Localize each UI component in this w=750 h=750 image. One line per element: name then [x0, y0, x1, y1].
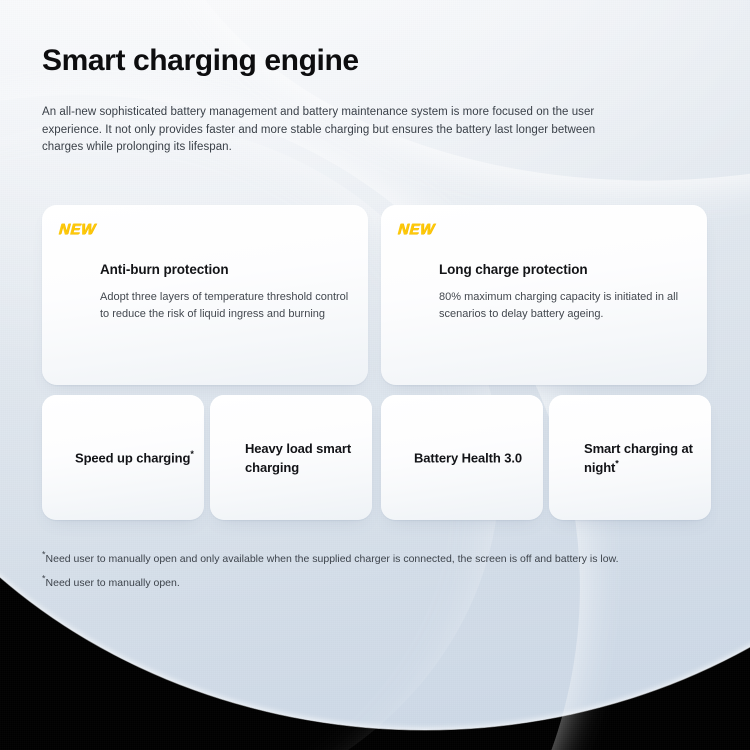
- content-layer: Smart charging engine An all-new sophist…: [0, 0, 750, 750]
- promo-slide: Smart charging engine An all-new sophist…: [0, 0, 750, 750]
- small-card-label: Smart charging at night*: [584, 439, 709, 477]
- feature-card-title: Long charge protection: [439, 262, 588, 277]
- feature-card-body: 80% maximum charging capacity is initiat…: [439, 289, 689, 322]
- new-badge: NEW: [58, 221, 96, 238]
- footnotes: *Need user to manually open and only ava…: [42, 551, 710, 591]
- footnote-marker: *: [615, 458, 618, 468]
- page-title: Smart charging engine: [42, 44, 359, 77]
- feature-card-long-charge-protection[interactable]: NEW Long charge protection 80% maximum c…: [381, 205, 707, 385]
- new-badge: NEW: [397, 221, 435, 238]
- small-card-speed-up-charging[interactable]: Speed up charging*: [42, 395, 204, 520]
- footnote-marker: *: [190, 449, 193, 459]
- small-card-label: Heavy load smart charging: [245, 439, 370, 477]
- footnote-item: *Need user to manually open and only ava…: [42, 551, 710, 567]
- footnote-item: *Need user to manually open.: [42, 575, 710, 591]
- intro-paragraph: An all-new sophisticated battery managem…: [42, 104, 632, 157]
- small-card-battery-health[interactable]: Battery Health 3.0: [381, 395, 543, 520]
- feature-card-title: Anti-burn protection: [100, 262, 228, 277]
- small-card-heavy-load-smart-charging[interactable]: Heavy load smart charging: [210, 395, 372, 520]
- small-card-smart-charging-at-night[interactable]: Smart charging at night*: [549, 395, 711, 520]
- small-card-label: Speed up charging*: [75, 448, 200, 467]
- feature-card-body: Adopt three layers of temperature thresh…: [100, 289, 350, 322]
- small-card-label: Battery Health 3.0: [414, 448, 539, 467]
- feature-card-anti-burn-protection[interactable]: NEW Anti-burn protection Adopt three lay…: [42, 205, 368, 385]
